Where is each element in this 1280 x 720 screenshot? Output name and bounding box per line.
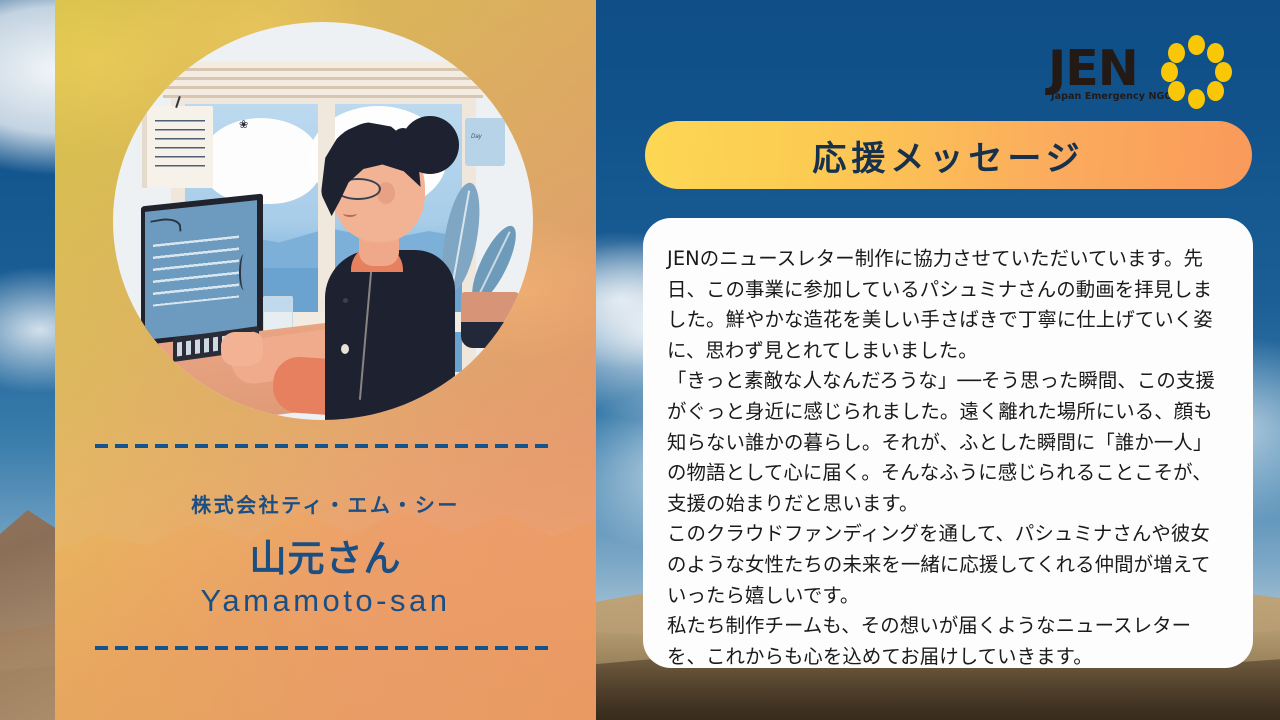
shirt-button — [343, 298, 348, 303]
jen-tagline: Japan Emergency NGO — [1051, 91, 1173, 102]
divider-bottom — [95, 646, 555, 650]
jen-logo-dot — [1168, 81, 1185, 101]
message-card: JENのニュースレター制作に協力させていただいています。先日、この事業に参加して… — [643, 218, 1253, 668]
person-mouth — [343, 210, 357, 217]
cloud-shape — [201, 118, 321, 204]
section-title-banner: 応援メッセージ — [645, 121, 1252, 189]
person-name: 山元さん — [55, 528, 596, 582]
person-torso — [325, 250, 455, 420]
plant-pot-band — [461, 322, 519, 348]
jen-sun-ring-icon — [1160, 36, 1232, 108]
shirt-detail — [341, 344, 349, 354]
person-hand — [221, 332, 263, 366]
message-body-text: JENのニュースレター制作に協力させていただいています。先日、この事業に参加して… — [667, 244, 1229, 672]
window-blinds — [163, 62, 483, 98]
jen-logo-dot — [1207, 81, 1224, 101]
wall-paper-note — [147, 106, 213, 188]
woman-working-at-computer-illustration: ❀ — [113, 22, 533, 420]
jen-logo-dot — [1161, 62, 1178, 82]
jen-logo-dot — [1168, 43, 1185, 63]
jen-logo-dot — [1207, 43, 1224, 63]
screen-text-lines — [153, 235, 239, 306]
company-name: 株式会社ティ・エム・シー — [55, 489, 596, 518]
section-title-label: 応援メッセージ — [812, 131, 1084, 180]
sticky-note — [465, 118, 505, 166]
person-hair-bun — [401, 116, 459, 174]
bird-icon: ❀ — [239, 120, 255, 130]
jen-logo-dot — [1215, 62, 1232, 82]
divider-top — [95, 444, 555, 448]
jen-wordmark: JEN — [1048, 40, 1138, 97]
jen-logo: JEN Japan Emergency NGO — [1048, 34, 1228, 110]
jen-logo-dot — [1188, 35, 1205, 55]
person-name-romanized: Yamamoto-san — [55, 583, 596, 619]
jen-logo-dot — [1188, 89, 1205, 109]
